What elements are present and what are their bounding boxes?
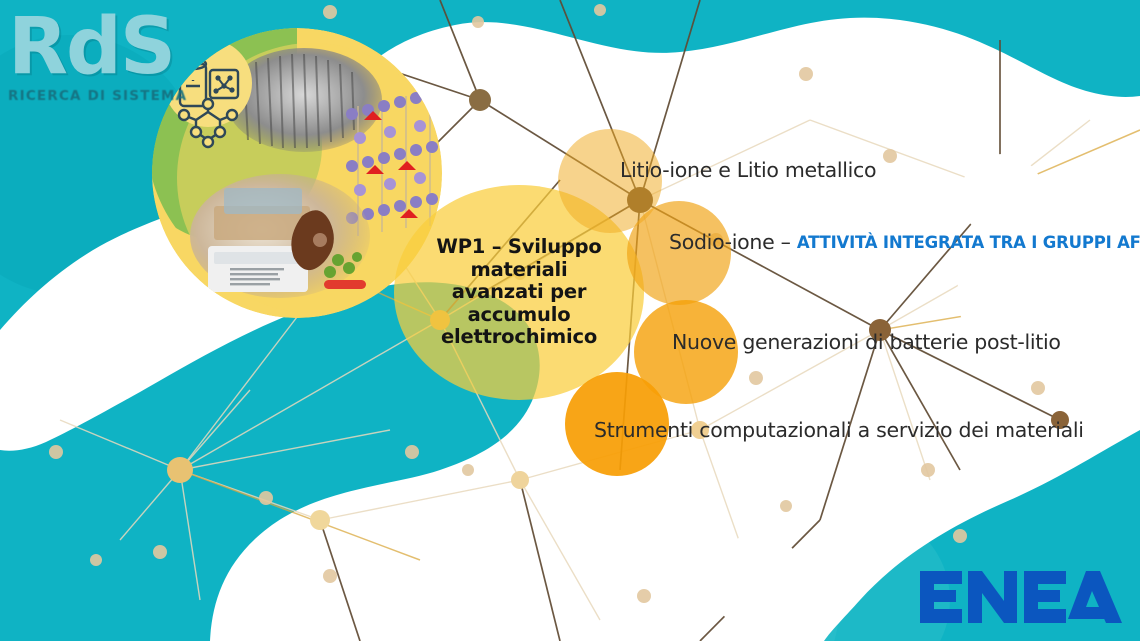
- main-topic-label: WP1 – Sviluppo materiali avanzati per ac…: [419, 236, 619, 349]
- enea-logo: [916, 557, 1126, 635]
- rds-logo: RdS RICERCA DI SISTEMA: [8, 8, 188, 118]
- enea-wordmark: [916, 557, 1126, 635]
- topic-highlight-sodio: ATTIVITÀ INTEGRATA TRA I GRUPPI AFFIDATA…: [797, 233, 1140, 252]
- topic-label-post-litio[interactable]: Nuove generazioni di batterie post-litio: [672, 330, 1061, 354]
- rds-subtitle: RICERCA DI SISTEMA: [8, 88, 188, 104]
- decor-circle: [710, 534, 806, 630]
- rds-wordmark: RdS: [8, 8, 188, 86]
- slide-canvas: WP1 – Sviluppo materiali avanzati per ac…: [0, 0, 1140, 641]
- topic-label-sodio[interactable]: Sodio-ione – ATTIVITÀ INTEGRATA TRA I GR…: [669, 230, 1140, 254]
- topic-label-computazione[interactable]: Strumenti computazionali a servizio dei …: [594, 418, 1084, 442]
- topic-label-litio[interactable]: Litio-ione e Litio metallico: [620, 158, 876, 182]
- decor-circle: [960, 154, 1044, 238]
